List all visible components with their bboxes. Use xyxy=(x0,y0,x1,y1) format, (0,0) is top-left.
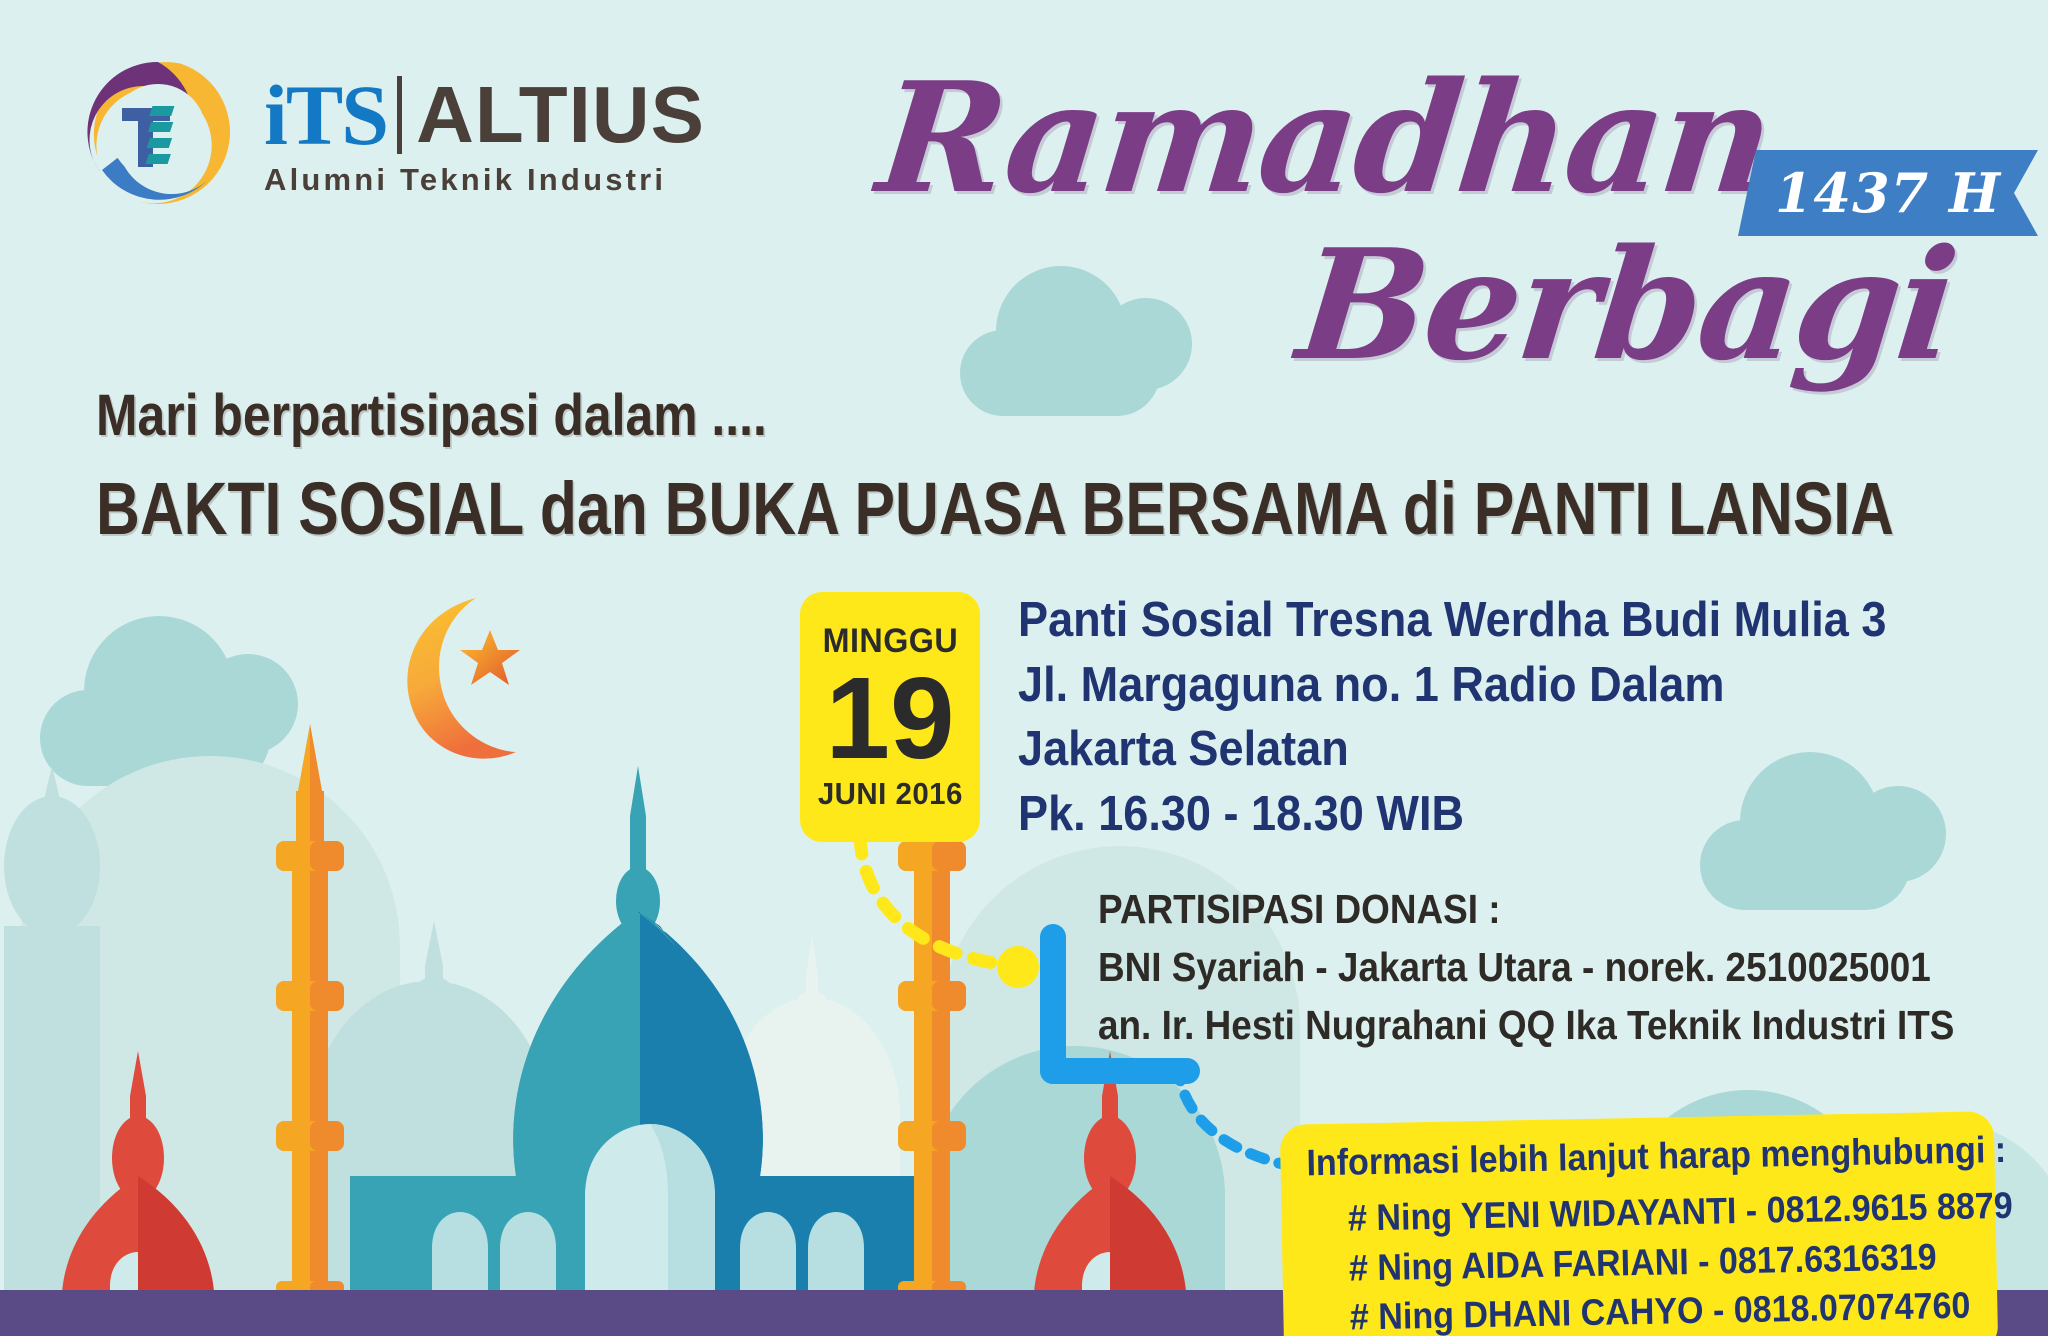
donation-line: BNI Syariah - Jakarta Utara - norek. 251… xyxy=(1098,938,1954,996)
donation-heading: PARTISIPASI DONASI : xyxy=(1098,880,1954,938)
date-month-year: JUNI 2016 xyxy=(817,776,962,812)
venue-line: Jakarta Selatan xyxy=(1018,717,1886,782)
its-altius-monogram-icon xyxy=(78,52,238,212)
altius-wordmark: ALTIUS xyxy=(416,75,705,155)
crescent-moon-icon xyxy=(392,590,592,780)
cloud-icon xyxy=(960,330,1160,416)
contact-title: Informasi lebih lanjut harap menghubungi… xyxy=(1306,1131,1916,1185)
venue-line: Panti Sosial Tresna Werdha Budi Mulia 3 xyxy=(1018,588,1886,653)
event-date-badge: MINGGU 19 JUNI 2016 xyxy=(800,592,980,842)
logo-divider xyxy=(397,76,402,154)
donation-line: an. Ir. Hesti Nugrahani QQ Ika Teknik In… xyxy=(1098,996,1954,1054)
headline-invitation: Mari berpartisipasi dalam .... xyxy=(96,382,767,449)
logo-subtitle: Alumni Teknik Industri xyxy=(264,162,705,198)
its-wordmark: iTS xyxy=(264,72,387,158)
headline-event: BAKTI SOSIAL dan BUKA PUASA BERSAMA di P… xyxy=(96,466,1894,551)
donation-block: PARTISIPASI DONASI : BNI Syariah - Jakar… xyxy=(1098,880,2048,1055)
star-icon xyxy=(460,630,520,685)
venue-line: Jl. Margaguna no. 1 Radio Dalam xyxy=(1018,653,1886,718)
contact-info-box: Informasi lebih lanjut harap menghubungi… xyxy=(1280,1111,1998,1336)
poster-canvas: iTS ALTIUS Alumni Teknik Industri Ramadh… xyxy=(0,0,2048,1336)
venue-block: Panti Sosial Tresna Werdha Budi Mulia 3 … xyxy=(1018,588,1962,847)
title-berbagi: Berbagi xyxy=(1291,215,1963,394)
title-ramadhan: Ramadhan xyxy=(871,48,1779,227)
its-altius-logo: iTS ALTIUS Alumni Teknik Industri xyxy=(78,52,705,212)
date-day-of-week: MINGGU xyxy=(822,622,958,661)
date-day-number: 19 xyxy=(825,663,954,773)
venue-line: Pk. 16.30 - 18.30 WIB xyxy=(1018,782,1886,847)
